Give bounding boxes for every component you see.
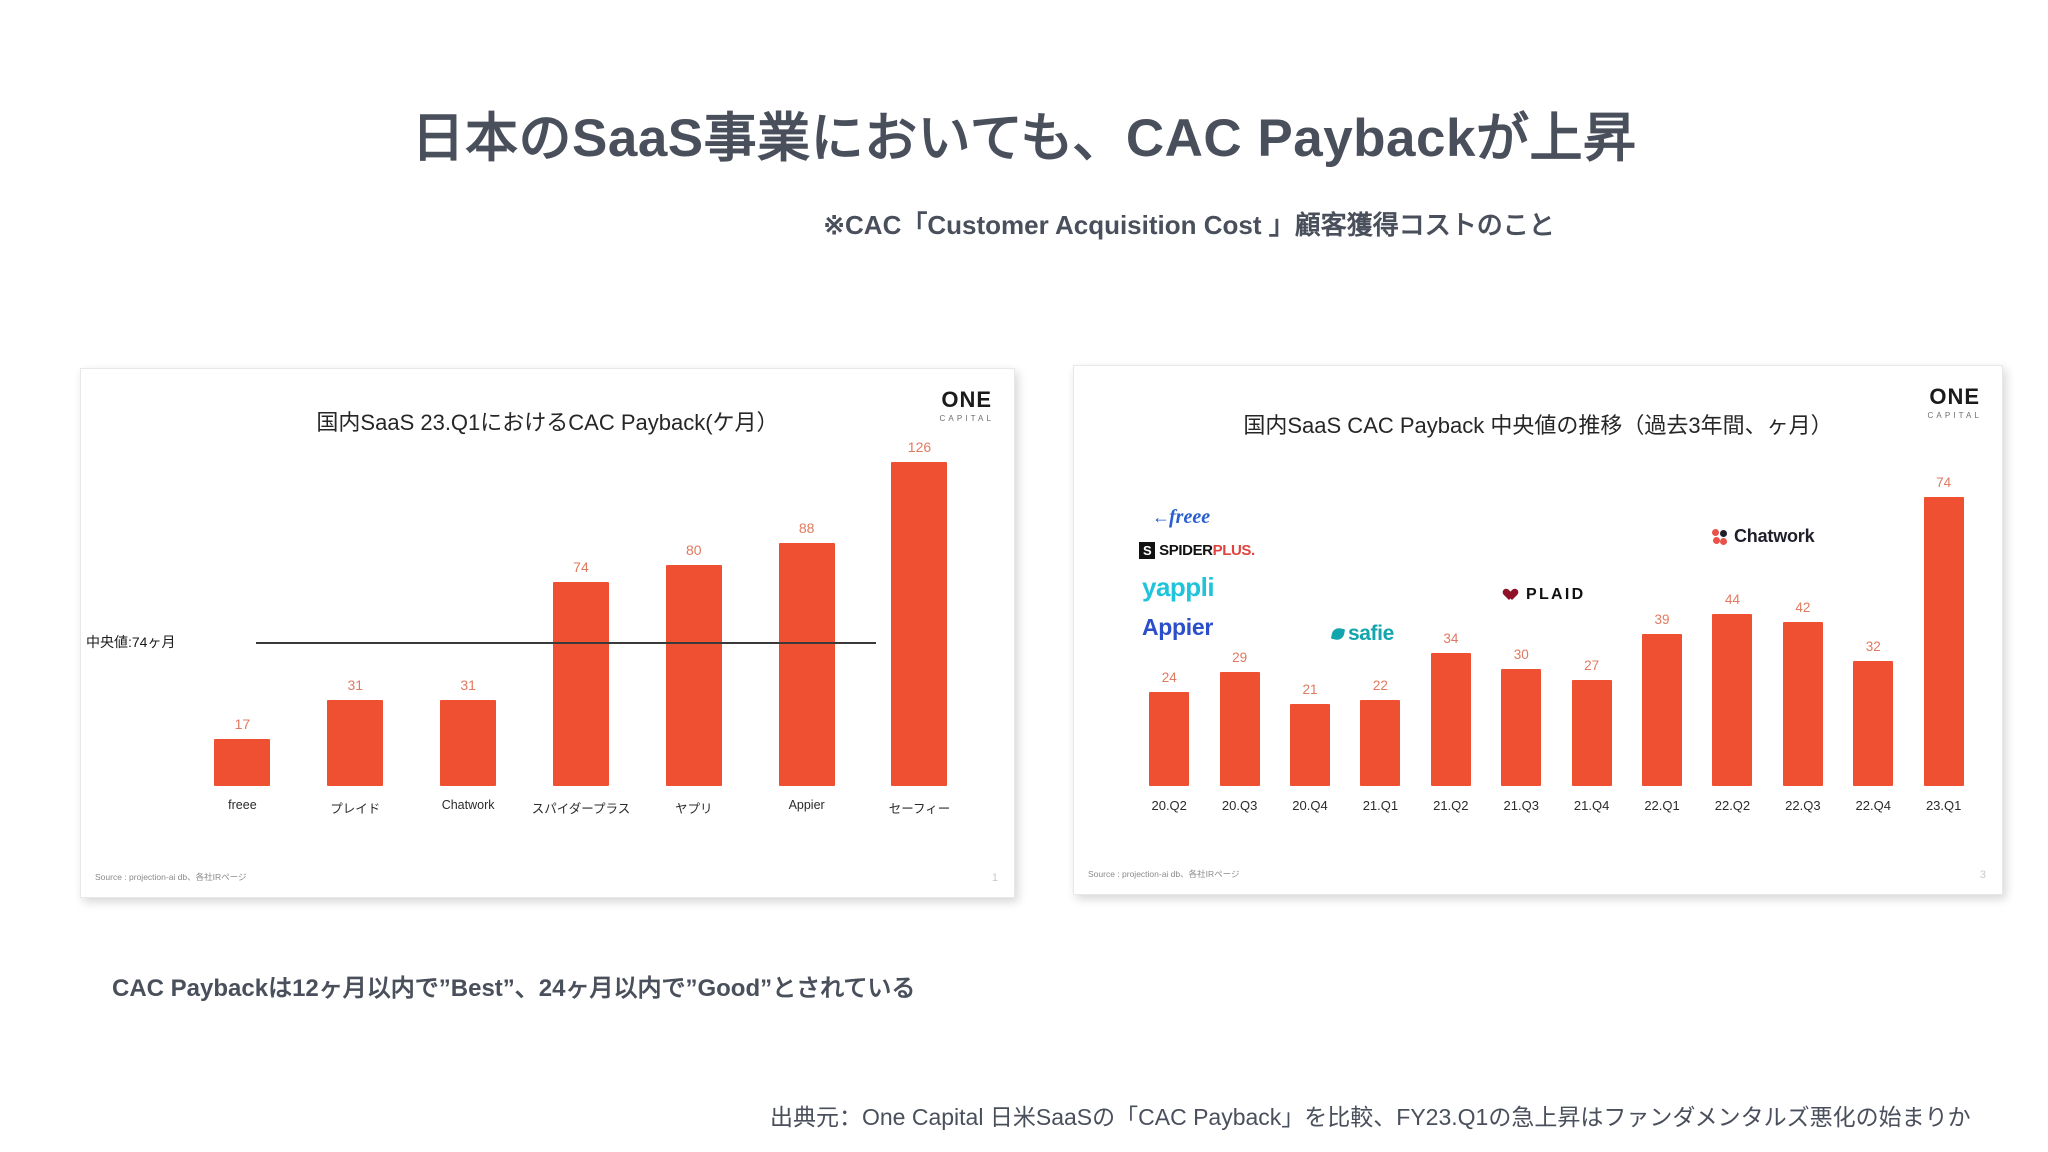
bar (327, 700, 383, 786)
chart-title-right: 国内SaaS CAC Payback 中央値の推移（過去3年間、ヶ月） (1074, 408, 2002, 440)
bar-value-label: 31 (460, 677, 476, 693)
bar (1149, 692, 1189, 786)
bar-slot: 29 (1208, 444, 1272, 786)
x-tick-label: freee (192, 798, 292, 812)
bar-slot: 24 (1137, 444, 1201, 786)
bar-slot: 42 (1771, 444, 1835, 786)
bar (1290, 704, 1330, 786)
bar-value-label: 44 (1725, 592, 1740, 607)
chart-card-left: ONE CAPITAL 国内SaaS 23.Q1におけるCAC Payback(… (80, 368, 1015, 898)
bar-slot: 21 (1278, 444, 1342, 786)
bar (1431, 653, 1471, 786)
bar-value-label: 74 (573, 559, 589, 575)
slide-canvas: 日本のSaaS事業においても、CAC Paybackが上昇 ※CAC「Custo… (0, 0, 2048, 1152)
x-tick-label: 21.Q3 (1489, 798, 1553, 813)
bar-value-label: 17 (235, 716, 251, 732)
bar-slot: 30 (1489, 444, 1553, 786)
x-tick-label: 21.Q4 (1560, 798, 1624, 813)
bar (1572, 680, 1612, 786)
bar-value-label: 126 (908, 439, 931, 455)
bar-value-label: 21 (1303, 682, 1318, 697)
bar-slot: 44 (1700, 444, 1764, 786)
bar (1642, 634, 1682, 786)
bar (1712, 614, 1752, 786)
bar-value-label: 29 (1232, 650, 1247, 665)
bar-value-label: 80 (686, 542, 702, 558)
bar-slot: 27 (1560, 444, 1624, 786)
x-tick-label: スパイダープラス (531, 798, 631, 817)
x-tick-label: 22.Q3 (1771, 798, 1835, 813)
x-tick-label: 21.Q1 (1348, 798, 1412, 813)
bar (214, 739, 270, 786)
page-subnote: ※CAC「Customer Acquisition Cost 」顧客獲得コストの… (0, 205, 2048, 242)
bar-value-label: 27 (1584, 658, 1599, 673)
source-credit: 出典元：One Capital 日米SaaSの「CAC Payback」を比較、… (770, 1098, 1971, 1132)
bar (1501, 669, 1541, 786)
x-tick-label: セーフィー (869, 798, 969, 817)
bar-slot: 32 (1841, 444, 1905, 786)
brand-word: ONE (1928, 386, 1982, 408)
page-number-right: 3 (1980, 869, 1986, 881)
bar-slot: 31 (418, 439, 518, 786)
x-tick-label: 21.Q2 (1419, 798, 1483, 813)
x-tick-label: ヤプリ (644, 798, 744, 817)
bar (1360, 700, 1400, 786)
median-line-label: 中央値:74ヶ月 (86, 632, 175, 652)
bar (1220, 672, 1260, 786)
bar-slot: 80 (644, 439, 744, 786)
bar-chart-right: ←freee S SPIDER PLUS. yappli Appier safi… (1134, 444, 1979, 824)
bar-slot: 31 (305, 439, 405, 786)
bar-value-label: 42 (1795, 600, 1810, 615)
bar-group-left: 17 31 31 74 80 (186, 439, 976, 786)
bar (553, 582, 609, 786)
bar-slot: 39 (1630, 444, 1694, 786)
bar-value-label: 30 (1514, 647, 1529, 662)
bar-slot: 17 (192, 439, 292, 786)
chart-title-left: 国内SaaS 23.Q1におけるCAC Payback(ケ月） (81, 405, 1014, 437)
x-axis-labels-right: 20.Q2 20.Q3 20.Q4 21.Q1 21.Q2 21.Q3 21.Q… (1134, 790, 1979, 824)
chart-card-right: ONE CAPITAL 国内SaaS CAC Payback 中央値の推移（過去… (1073, 365, 2003, 895)
bar-value-label: 32 (1866, 639, 1881, 654)
x-tick-label: プレイド (305, 798, 405, 817)
bar-slot: 74 (531, 439, 631, 786)
source-note-left: Source : projection-ai db、各社IRページ (95, 871, 246, 883)
source-note-right: Source : projection-ai db、各社IRページ (1088, 868, 1239, 880)
bar (891, 462, 947, 786)
bar-value-label: 22 (1373, 678, 1388, 693)
bar-group-right: 24 29 21 22 34 (1134, 444, 1979, 786)
x-tick-label: 22.Q1 (1630, 798, 1694, 813)
x-axis-labels-left: freee プレイド Chatwork スパイダープラス ヤプリ Appier … (186, 790, 976, 824)
bar-slot: 34 (1419, 444, 1483, 786)
bar-chart-left: 17 31 31 74 80 (186, 439, 976, 824)
x-tick-label: 20.Q2 (1137, 798, 1201, 813)
x-tick-label: 22.Q4 (1841, 798, 1905, 813)
bar (666, 565, 722, 786)
bar-value-label: 74 (1936, 475, 1951, 490)
x-tick-label: Chatwork (418, 798, 518, 812)
x-tick-label: 23.Q1 (1912, 798, 1976, 813)
x-tick-label: Appier (757, 798, 857, 812)
bar (440, 700, 496, 786)
bar-slot: 88 (757, 439, 857, 786)
benchmark-caption: CAC Paybackは12ヶ月以内で”Best”、24ヶ月以内で”Good”と… (112, 968, 915, 1003)
bar-value-label: 39 (1655, 612, 1670, 627)
bar (1853, 661, 1893, 786)
median-line (256, 642, 876, 644)
bar (1783, 622, 1823, 786)
bar-value-label: 24 (1162, 670, 1177, 685)
bar-value-label: 34 (1443, 631, 1458, 646)
page-title: 日本のSaaS事業においても、CAC Paybackが上昇 (0, 96, 2048, 172)
bar-value-label: 88 (799, 520, 815, 536)
x-tick-label: 20.Q4 (1278, 798, 1342, 813)
bar-slot: 126 (869, 439, 969, 786)
x-tick-label: 20.Q3 (1208, 798, 1272, 813)
x-tick-label: 22.Q2 (1700, 798, 1764, 813)
bar (1924, 497, 1964, 786)
bar-value-label: 31 (347, 677, 363, 693)
bar-slot: 22 (1348, 444, 1412, 786)
bar (779, 543, 835, 786)
bar-slot: 74 (1912, 444, 1976, 786)
page-number-left: 1 (992, 872, 998, 884)
